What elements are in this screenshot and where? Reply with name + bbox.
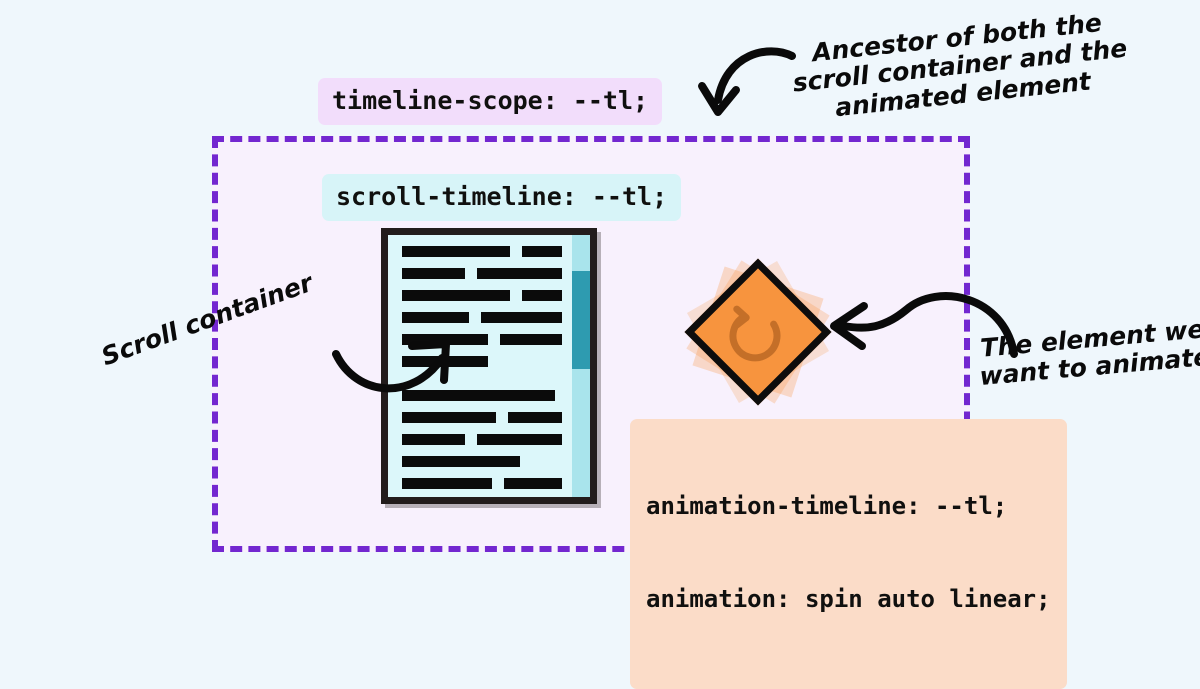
document-text-bar — [477, 434, 562, 445]
document-text-bar — [402, 312, 469, 323]
document-text-bar — [477, 268, 562, 279]
document-text-row — [402, 290, 562, 301]
document-text-bar — [481, 312, 562, 323]
document-text-row — [402, 434, 562, 445]
code-chip-timeline-scope: timeline-scope: --tl; — [318, 78, 662, 125]
document-text-bar — [522, 290, 562, 301]
arrow-to-scroll-container-icon — [330, 330, 460, 410]
document-text-bar — [402, 290, 510, 301]
scrollbar-track[interactable] — [572, 235, 590, 497]
document-text-bar — [402, 478, 492, 489]
document-text-bar — [402, 434, 465, 445]
document-text-bar — [402, 412, 496, 423]
document-text-row — [402, 312, 562, 323]
document-text-bar — [402, 456, 520, 467]
code-chip-scroll-timeline: scroll-timeline: --tl; — [322, 174, 681, 221]
annotation-ancestor: Ancestor of both the scroll container an… — [788, 7, 1131, 126]
document-text-bar — [402, 246, 510, 257]
arrow-to-animated-element-icon — [818, 280, 1048, 370]
document-text-bar — [508, 412, 562, 423]
document-text-row — [402, 478, 562, 489]
document-text-bar — [500, 334, 562, 345]
code-line-animation-timeline: animation-timeline: --tl; — [646, 491, 1051, 522]
document-text-row — [402, 246, 562, 257]
document-text-bar — [522, 246, 562, 257]
document-text-row — [402, 412, 562, 423]
document-text-bar — [402, 268, 465, 279]
arrow-to-ancestor-box-icon — [690, 34, 810, 134]
code-chip-animation: animation-timeline: --tl; animation: spi… — [630, 419, 1067, 689]
spin-refresh-icon — [723, 297, 792, 366]
code-line-animation: animation: spin auto linear; — [646, 584, 1051, 615]
animated-element-group[interactable] — [688, 262, 828, 402]
document-text-bar — [504, 478, 562, 489]
document-text-row — [402, 268, 562, 279]
diagram-canvas: timeline-scope: --tl; scroll-timeline: -… — [0, 0, 1200, 630]
document-text-row — [402, 456, 562, 467]
scrollbar-thumb[interactable] — [572, 271, 590, 369]
